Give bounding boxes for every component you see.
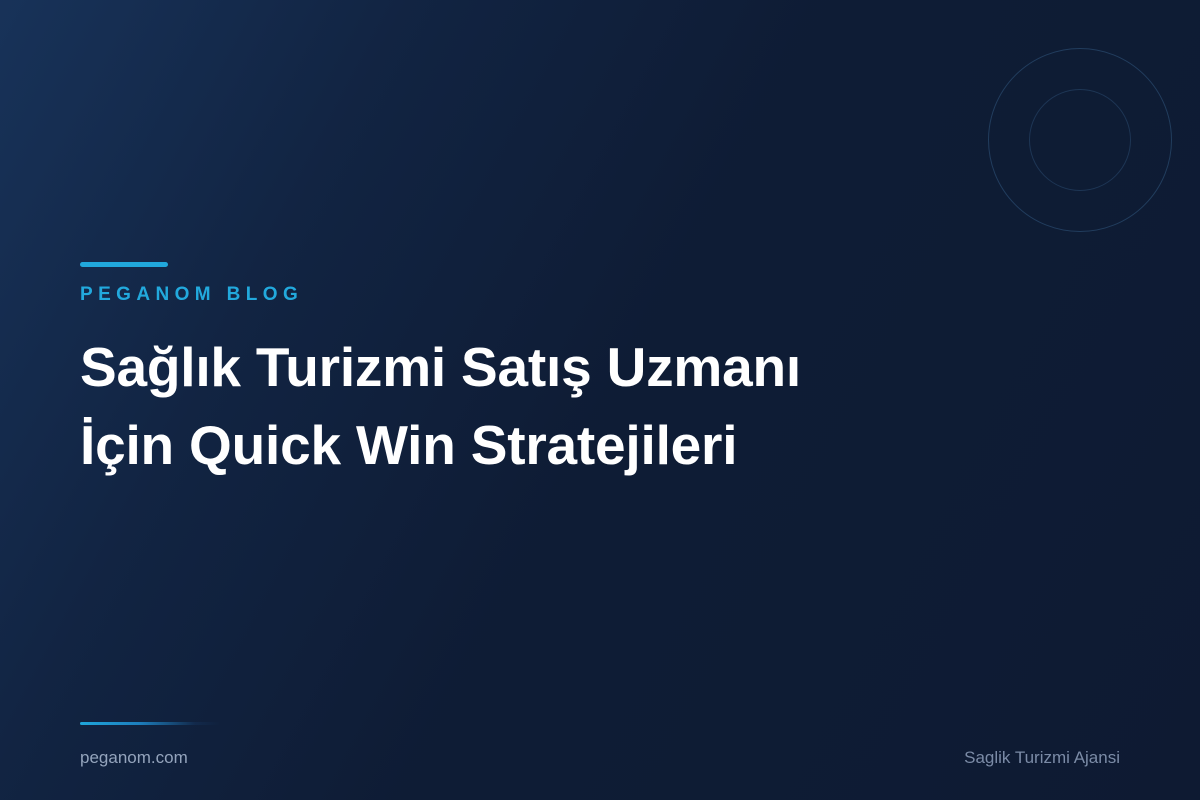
banner-content: PEGANOM BLOG Sağlık Turizmi Satış Uzmanı…: [80, 262, 980, 484]
eyebrow-label: PEGANOM BLOG: [80, 285, 980, 304]
footer-row: peganom.com Saglik Turizmi Ajansi: [80, 749, 1120, 766]
eyebrow-accent-bar: [80, 262, 168, 267]
blog-cover-banner: PEGANOM BLOG Sağlık Turizmi Satış Uzmanı…: [0, 0, 1200, 800]
footer-site-url: peganom.com: [80, 749, 188, 766]
footer-accent-rule: [80, 722, 220, 725]
page-title: Sağlık Turizmi Satış Uzmanı İçin Quick W…: [80, 304, 980, 484]
footer-tagline: Saglik Turizmi Ajansi: [964, 749, 1120, 766]
outer-circle-icon: [988, 48, 1172, 232]
decorative-concentric-circles: [988, 48, 1178, 238]
inner-circle-icon: [1029, 89, 1131, 191]
banner-footer: peganom.com Saglik Turizmi Ajansi: [80, 722, 1120, 766]
